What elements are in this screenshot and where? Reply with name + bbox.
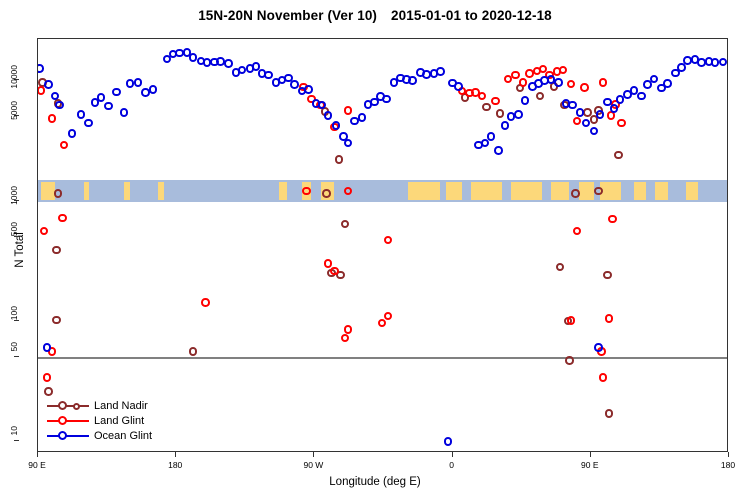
y-axis-tick-label: 50 — [9, 342, 19, 370]
data-point — [55, 101, 64, 110]
data-point — [341, 334, 350, 343]
data-point — [519, 78, 528, 87]
legend-marker — [58, 431, 67, 440]
map-landmass — [408, 182, 440, 200]
data-point — [224, 59, 233, 68]
data-point — [444, 437, 453, 446]
legend-symbol — [47, 414, 89, 427]
data-point — [344, 325, 353, 334]
map-landmass — [158, 182, 164, 200]
data-point — [77, 110, 86, 119]
data-point — [341, 220, 350, 229]
data-point — [596, 110, 605, 119]
chart-legend: Land NadirLand GlintOcean Glint — [47, 398, 152, 443]
map-landmass — [686, 182, 698, 200]
data-point — [637, 92, 646, 101]
data-point — [590, 127, 599, 136]
x-axis-tick — [728, 452, 729, 457]
data-point — [511, 71, 520, 80]
plot-area — [37, 38, 728, 452]
data-point — [304, 85, 313, 94]
map-landmass — [551, 182, 569, 200]
data-point — [436, 67, 445, 76]
map-landmass — [511, 182, 542, 200]
map-landmass — [471, 182, 502, 200]
x-axis-tick-label: 180 — [721, 460, 735, 470]
data-point — [719, 58, 727, 67]
legend-label: Ocean Glint — [94, 430, 152, 442]
legend-marker — [58, 401, 67, 410]
data-point — [573, 117, 582, 126]
legend-marker — [58, 416, 67, 425]
data-point — [556, 263, 565, 272]
data-point — [567, 316, 576, 325]
data-point — [290, 80, 299, 89]
map-landmass — [655, 182, 667, 200]
y-axis-tick-label: 100 — [9, 306, 19, 334]
x-axis-tick-label: 90 E — [28, 460, 46, 470]
data-point — [594, 187, 603, 196]
legend-item: Land Nadir — [47, 398, 152, 413]
data-point — [501, 121, 510, 130]
map-landmass — [41, 182, 55, 200]
data-point — [559, 66, 568, 75]
map-landmass — [579, 182, 594, 200]
data-point — [40, 227, 49, 236]
data-point — [382, 95, 391, 104]
legend-symbol — [47, 399, 89, 412]
data-point — [112, 88, 121, 97]
data-point — [104, 102, 113, 111]
data-point — [44, 387, 53, 396]
data-point — [536, 92, 545, 101]
plot-inner — [38, 39, 727, 451]
data-point — [264, 71, 273, 80]
data-point — [322, 189, 331, 198]
map-landmass — [446, 182, 461, 200]
x-axis-tick — [37, 452, 38, 457]
data-point — [610, 104, 619, 113]
x-axis-tick-label: 90 E — [581, 460, 599, 470]
data-point — [514, 110, 523, 119]
scatter-plot-figure: 15N-20N November (Ver 10)2015-01-01 to 2… — [0, 0, 750, 500]
x-axis-tick — [590, 452, 591, 457]
legend-line — [47, 435, 89, 437]
data-point — [478, 92, 487, 101]
data-point — [521, 96, 530, 105]
x-axis-tick — [175, 452, 176, 457]
legend-item: Ocean Glint — [47, 428, 152, 443]
data-point — [120, 108, 129, 117]
data-point — [134, 78, 143, 87]
data-point — [60, 141, 69, 150]
data-point — [582, 119, 591, 128]
data-point — [554, 78, 563, 87]
data-point — [97, 93, 106, 102]
data-point — [603, 271, 612, 280]
data-point — [608, 215, 617, 224]
x-axis-tick-label: 180 — [168, 460, 182, 470]
x-axis-tick — [313, 452, 314, 457]
y-axis-tick-label: 10000 — [9, 65, 19, 93]
data-point — [580, 83, 589, 92]
data-point — [68, 129, 77, 138]
y-axis-tick-label: 10 — [9, 426, 19, 454]
map-landmass — [84, 182, 89, 200]
data-point — [332, 121, 341, 130]
y-axis-tick-label: 1000 — [9, 186, 19, 214]
data-point — [44, 80, 53, 89]
x-axis-label: Longitude (deg E) — [0, 476, 750, 488]
data-point — [378, 319, 387, 328]
data-point — [491, 97, 500, 106]
data-point — [48, 114, 57, 123]
map-landmass — [634, 182, 646, 200]
x-axis-tick-label: 90 W — [303, 460, 323, 470]
data-point — [344, 106, 353, 115]
data-point — [614, 151, 623, 160]
world-map-band — [38, 180, 727, 202]
legend-label: Land Nadir — [94, 400, 148, 412]
data-point — [568, 101, 577, 110]
data-point — [494, 146, 503, 155]
x-axis-tick-label: 0 — [449, 460, 454, 470]
data-point — [324, 111, 333, 120]
data-point — [599, 373, 608, 382]
data-point — [335, 155, 344, 164]
data-point — [358, 113, 367, 122]
y-axis-tick-label: 5000 — [9, 101, 19, 129]
data-point — [58, 214, 67, 223]
data-point — [38, 64, 44, 73]
reference-line-50 — [38, 357, 727, 359]
legend-marker-secondary — [73, 403, 80, 410]
data-point — [54, 189, 63, 198]
data-point — [330, 267, 339, 276]
legend-label: Land Glint — [94, 415, 144, 427]
y-axis-tick-label: 500 — [9, 222, 19, 250]
data-point — [573, 227, 582, 236]
data-point — [663, 79, 672, 88]
data-point — [599, 78, 608, 87]
data-point — [52, 246, 61, 255]
data-point — [84, 119, 93, 128]
legend-item: Land Glint — [47, 413, 152, 428]
data-point — [384, 312, 393, 321]
data-point — [201, 298, 210, 307]
data-point — [605, 409, 614, 418]
data-point — [43, 373, 52, 382]
data-point — [149, 85, 158, 94]
data-point — [605, 314, 614, 323]
data-point — [454, 82, 463, 91]
map-landmass — [124, 182, 130, 200]
legend-line — [47, 405, 89, 407]
data-point — [565, 356, 574, 365]
chart-title-main: 15N-20N November (Ver 10) — [198, 8, 377, 23]
data-point — [487, 132, 496, 141]
map-landmass — [600, 182, 621, 200]
data-point — [408, 76, 417, 85]
data-point — [617, 119, 626, 128]
data-point — [189, 347, 198, 356]
data-point — [344, 139, 353, 148]
map-landmass — [279, 182, 287, 200]
legend-line — [47, 420, 89, 422]
chart-title-daterange: 2015-01-01 to 2020-12-18 — [391, 8, 552, 23]
data-point — [482, 103, 491, 112]
data-point — [384, 236, 393, 245]
data-point — [650, 75, 659, 84]
legend-symbol — [47, 429, 89, 442]
data-point — [571, 189, 580, 198]
data-point — [594, 343, 603, 352]
x-axis-tick — [452, 452, 453, 457]
data-point — [567, 80, 576, 89]
chart-title: 15N-20N November (Ver 10)2015-01-01 to 2… — [0, 8, 750, 23]
data-point — [496, 109, 505, 118]
data-point — [52, 316, 61, 325]
data-point — [576, 108, 585, 117]
